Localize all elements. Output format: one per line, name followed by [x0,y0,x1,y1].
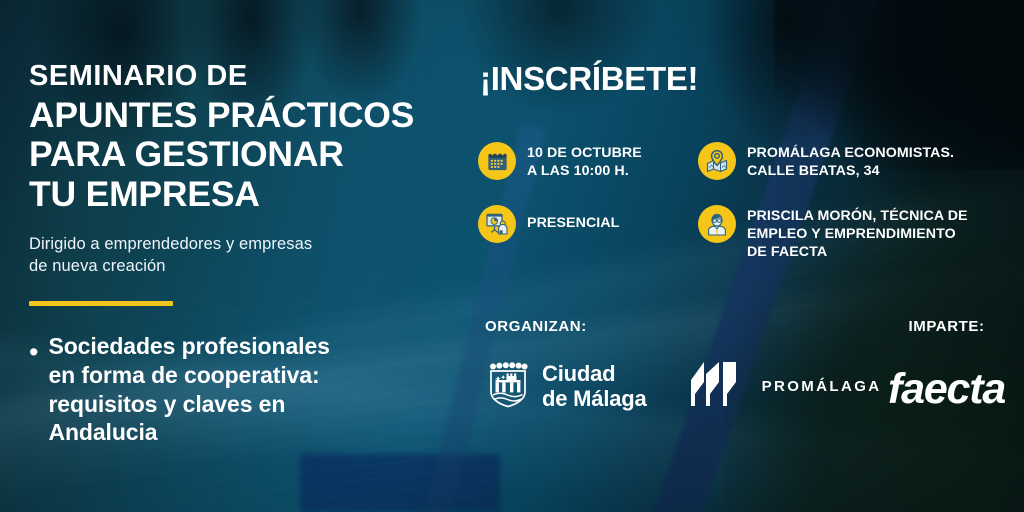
subtitle-line-2: de nueva creación [29,255,459,277]
cta-heading: ¡INSCRÍBETE! [480,60,1015,98]
logo-malaga-line-1: Ciudad [542,362,647,387]
kicker-text: SEMINARIO DE [29,62,459,92]
organizer-logos: Ciudad de Málaga [485,359,882,414]
event-details-row-2: PRESENCIAL [478,205,1023,262]
logo-promalaga: PROMÁLAGA [691,360,882,413]
person-icon [698,205,736,243]
detail-format-line-1: PRESENCIAL [527,215,619,233]
organizers-label: ORGANIZAN: [485,318,882,335]
logo-ciudad-de-malaga: Ciudad de Málaga [485,359,647,414]
footer: ORGANIZAN: [0,318,1024,448]
detail-speaker-line-2: EMPLEO Y EMPRENDIMIENTO [747,226,968,244]
subtitle-line-1: Dirigido a emprendedores y empresas [29,233,459,255]
detail-speaker-line-1: PRISCILA MORÓN, TÉCNICA DE [747,208,968,226]
detail-location: PROMÁLAGA ECONOMISTAS. CALLE BEATAS, 34 [698,142,1023,181]
logo-promalaga-wordmark: PROMÁLAGA [762,378,882,395]
detail-date: 10 DE OCTUBRE A LAS 10:00 H. [478,142,680,181]
detail-speaker-line-3: DE FAECTA [747,244,968,262]
detail-location-line-2: CALLE BEATAS, 34 [747,163,954,181]
subtitle: Dirigido a emprendedores y empresas de n… [29,233,459,277]
event-banner: SEMINARIO DE APUNTES PRÁCTICOS PARA GEST… [0,0,1024,512]
logo-ciudad-de-malaga-text: Ciudad de Málaga [542,362,647,411]
imparte-label: IMPARTE: [888,318,1005,335]
detail-speaker-text: PRISCILA MORÓN, TÉCNICA DE EMPLEO Y EMPR… [747,205,968,262]
detail-date-line-2: A LAS 10:00 H. [527,163,642,181]
map-pin-icon [698,142,736,180]
yellow-divider [29,301,173,306]
detail-location-line-1: PROMÁLAGA ECONOMISTAS. [747,145,954,163]
detail-speaker: PRISCILA MORÓN, TÉCNICA DE EMPLEO Y EMPR… [698,205,1023,262]
promalaga-chevrons-icon [691,360,749,413]
logo-faecta: faecta [888,365,1005,414]
detail-format-text: PRESENCIAL [527,205,619,233]
organizers-block: ORGANIZAN: [485,318,882,414]
headline-line-2: PARA GESTIONAR [29,135,459,175]
event-details: 10 DE OCTUBRE A LAS 10:00 H. [478,142,1023,285]
event-details-row-1: 10 DE OCTUBRE A LAS 10:00 H. [478,142,1023,181]
detail-location-text: PROMÁLAGA ECONOMISTAS. CALLE BEATAS, 34 [747,142,954,181]
logo-malaga-line-2: de Málaga [542,387,647,412]
imparte-block: IMPARTE: faecta [888,318,1005,414]
headline-line-3: TU EMPRESA [29,175,459,215]
calendar-icon [478,142,516,180]
page-title: APUNTES PRÁCTICOS PARA GESTIONAR TU EMPR… [29,96,459,215]
detail-format: PRESENCIAL [478,205,680,262]
headline-line-1: APUNTES PRÁCTICOS [29,96,459,136]
malaga-shield-icon [485,359,531,414]
right-column: ¡INSCRÍBETE! [480,60,1015,98]
detail-date-text: 10 DE OCTUBRE A LAS 10:00 H. [527,142,642,181]
detail-date-line-1: 10 DE OCTUBRE [527,145,642,163]
presentation-icon [478,205,516,243]
